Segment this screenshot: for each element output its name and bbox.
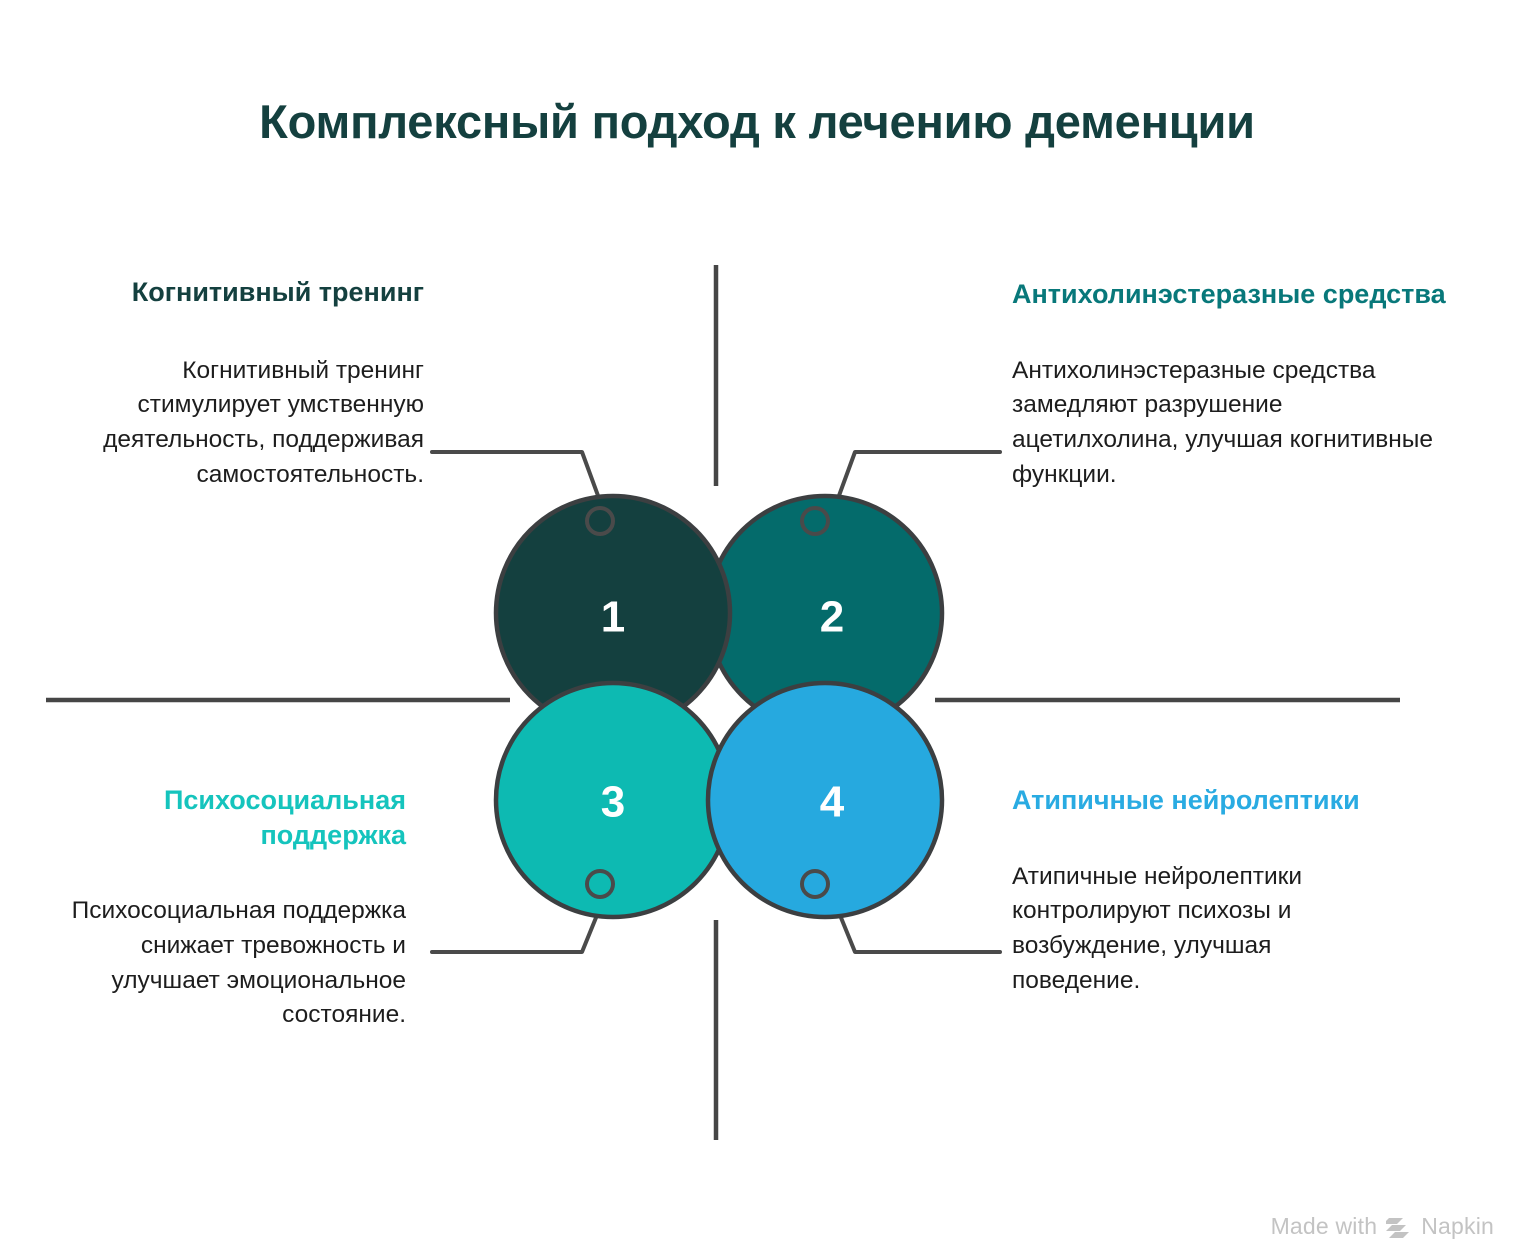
circle-number-3: 3: [601, 778, 625, 827]
quadrant-body-4: Атипичные нейролептики контролируют псих…: [1012, 860, 1362, 999]
quadrant-heading-2: Антихолинэстеразные средства: [1012, 277, 1452, 312]
quadrant-bottom-left: Психосоциальная поддержка Психосоциальна…: [66, 783, 406, 1033]
quadrant-body-3: Психосоциальная поддержка снижает тревож…: [66, 894, 406, 1033]
quadrant-bottom-right: Атипичные нейролептики Атипичные нейроле…: [1012, 783, 1362, 999]
watermark-brand: Napkin: [1421, 1213, 1494, 1240]
quadrant-top-left: Когнитивный тренинг Когнитивный тренинг …: [94, 275, 424, 493]
venn-circles: [496, 496, 942, 917]
quadrant-heading-3: Психосоциальная поддержка: [66, 783, 406, 852]
circle-number-1: 1: [601, 593, 625, 642]
infographic-canvas: Комплексный подход к лечению деменции: [0, 0, 1514, 1256]
circle-number-2: 2: [820, 593, 844, 642]
quadrant-body-2: Антихолинэстеразные средства замедляют р…: [1012, 354, 1452, 493]
venn-diagram: 1 2 3 4: [0, 0, 1514, 1256]
circle-number-4: 4: [820, 778, 845, 827]
quadrant-body-1: Когнитивный тренинг стимулирует умственн…: [94, 354, 424, 493]
napkin-stripes-logo-icon: [1386, 1216, 1412, 1238]
watermark: Made with Napkin: [1271, 1213, 1494, 1240]
watermark-text: Made with: [1271, 1213, 1378, 1240]
quadrant-top-right: Антихолинэстеразные средства Антихолинэс…: [1012, 277, 1452, 493]
quadrant-heading-4: Атипичные нейролептики: [1012, 783, 1362, 818]
quadrant-heading-1: Когнитивный тренинг: [94, 275, 424, 310]
